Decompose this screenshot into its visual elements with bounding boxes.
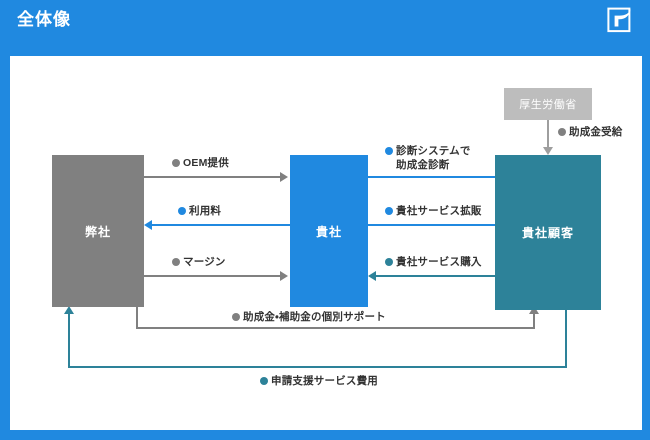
flow-line-service-buy [374,275,503,277]
slide-root: 全体像 助成金受給 OEM提供 利用料 マージン [0,0,650,440]
flow-line-usage-fee [150,224,290,226]
flow-arrowhead-oem [280,172,288,182]
node-customer[interactable]: 貴社顧客 [495,155,601,310]
flow-label-subsidy-grant: 助成金受給 [558,125,623,139]
bullet-icon-subsidy-grant [558,128,566,136]
flow-line-application-fee-right [565,310,567,368]
diagram-canvas: 助成金受給 OEM提供 利用料 マージン 診断システムで 助成金診断 [10,56,642,430]
flow-line-support-left [136,307,138,329]
node-ministry[interactable]: 厚生労働省 [504,88,592,120]
flow-label-margin: マージン [172,255,226,269]
flow-arrowhead-application-fee [64,306,74,314]
bullet-icon-diagnosis [385,147,393,155]
flow-line-application-fee-bottom [68,366,567,368]
flow-label-application-fee: 申請支援サービス費用 [260,374,378,388]
bullet-icon-oem [172,159,180,167]
flow-label-service-expand: 貴社サービス拡販 [385,204,482,218]
flow-label-usage-fee: 利用料 [178,204,221,218]
r-square-logo-icon [607,6,633,34]
flow-line-support-bottom [136,327,535,329]
node-company[interactable]: 弊社 [52,155,144,307]
flow-arrowhead-margin [280,271,288,281]
flow-arrowhead-usage-fee [144,220,152,230]
bullet-icon-service-buy [385,258,393,266]
bullet-icon-support [232,313,240,321]
flow-line-margin [144,275,282,277]
bullet-icon-usage-fee [178,207,186,215]
flow-label-diagnosis-line2: 助成金診断 [396,159,450,171]
bullet-icon-margin [172,258,180,266]
flow-line-diagnosis [368,176,503,178]
flow-line-support-right [533,314,535,329]
page-title: 全体像 [17,9,71,31]
flow-label-service-buy: 貴社サービス購入 [385,255,482,269]
flow-arrowhead-service-buy [368,271,376,281]
flow-line-service-expand [368,224,503,226]
slide-header: 全体像 [0,0,650,56]
node-partner[interactable]: 貴社 [290,155,368,307]
flow-line-oem [144,176,282,178]
bullet-icon-application-fee [260,377,268,385]
flow-arrowhead-subsidy-grant [543,147,553,155]
flow-label-support: 助成金・補助金の個別サポート [232,310,386,324]
flow-label-diagnosis: 診断システムで 助成金診断 [385,144,505,172]
bullet-icon-service-expand [385,207,393,215]
flow-label-oem: OEM提供 [172,156,229,170]
flow-line-application-fee-left [68,314,70,368]
